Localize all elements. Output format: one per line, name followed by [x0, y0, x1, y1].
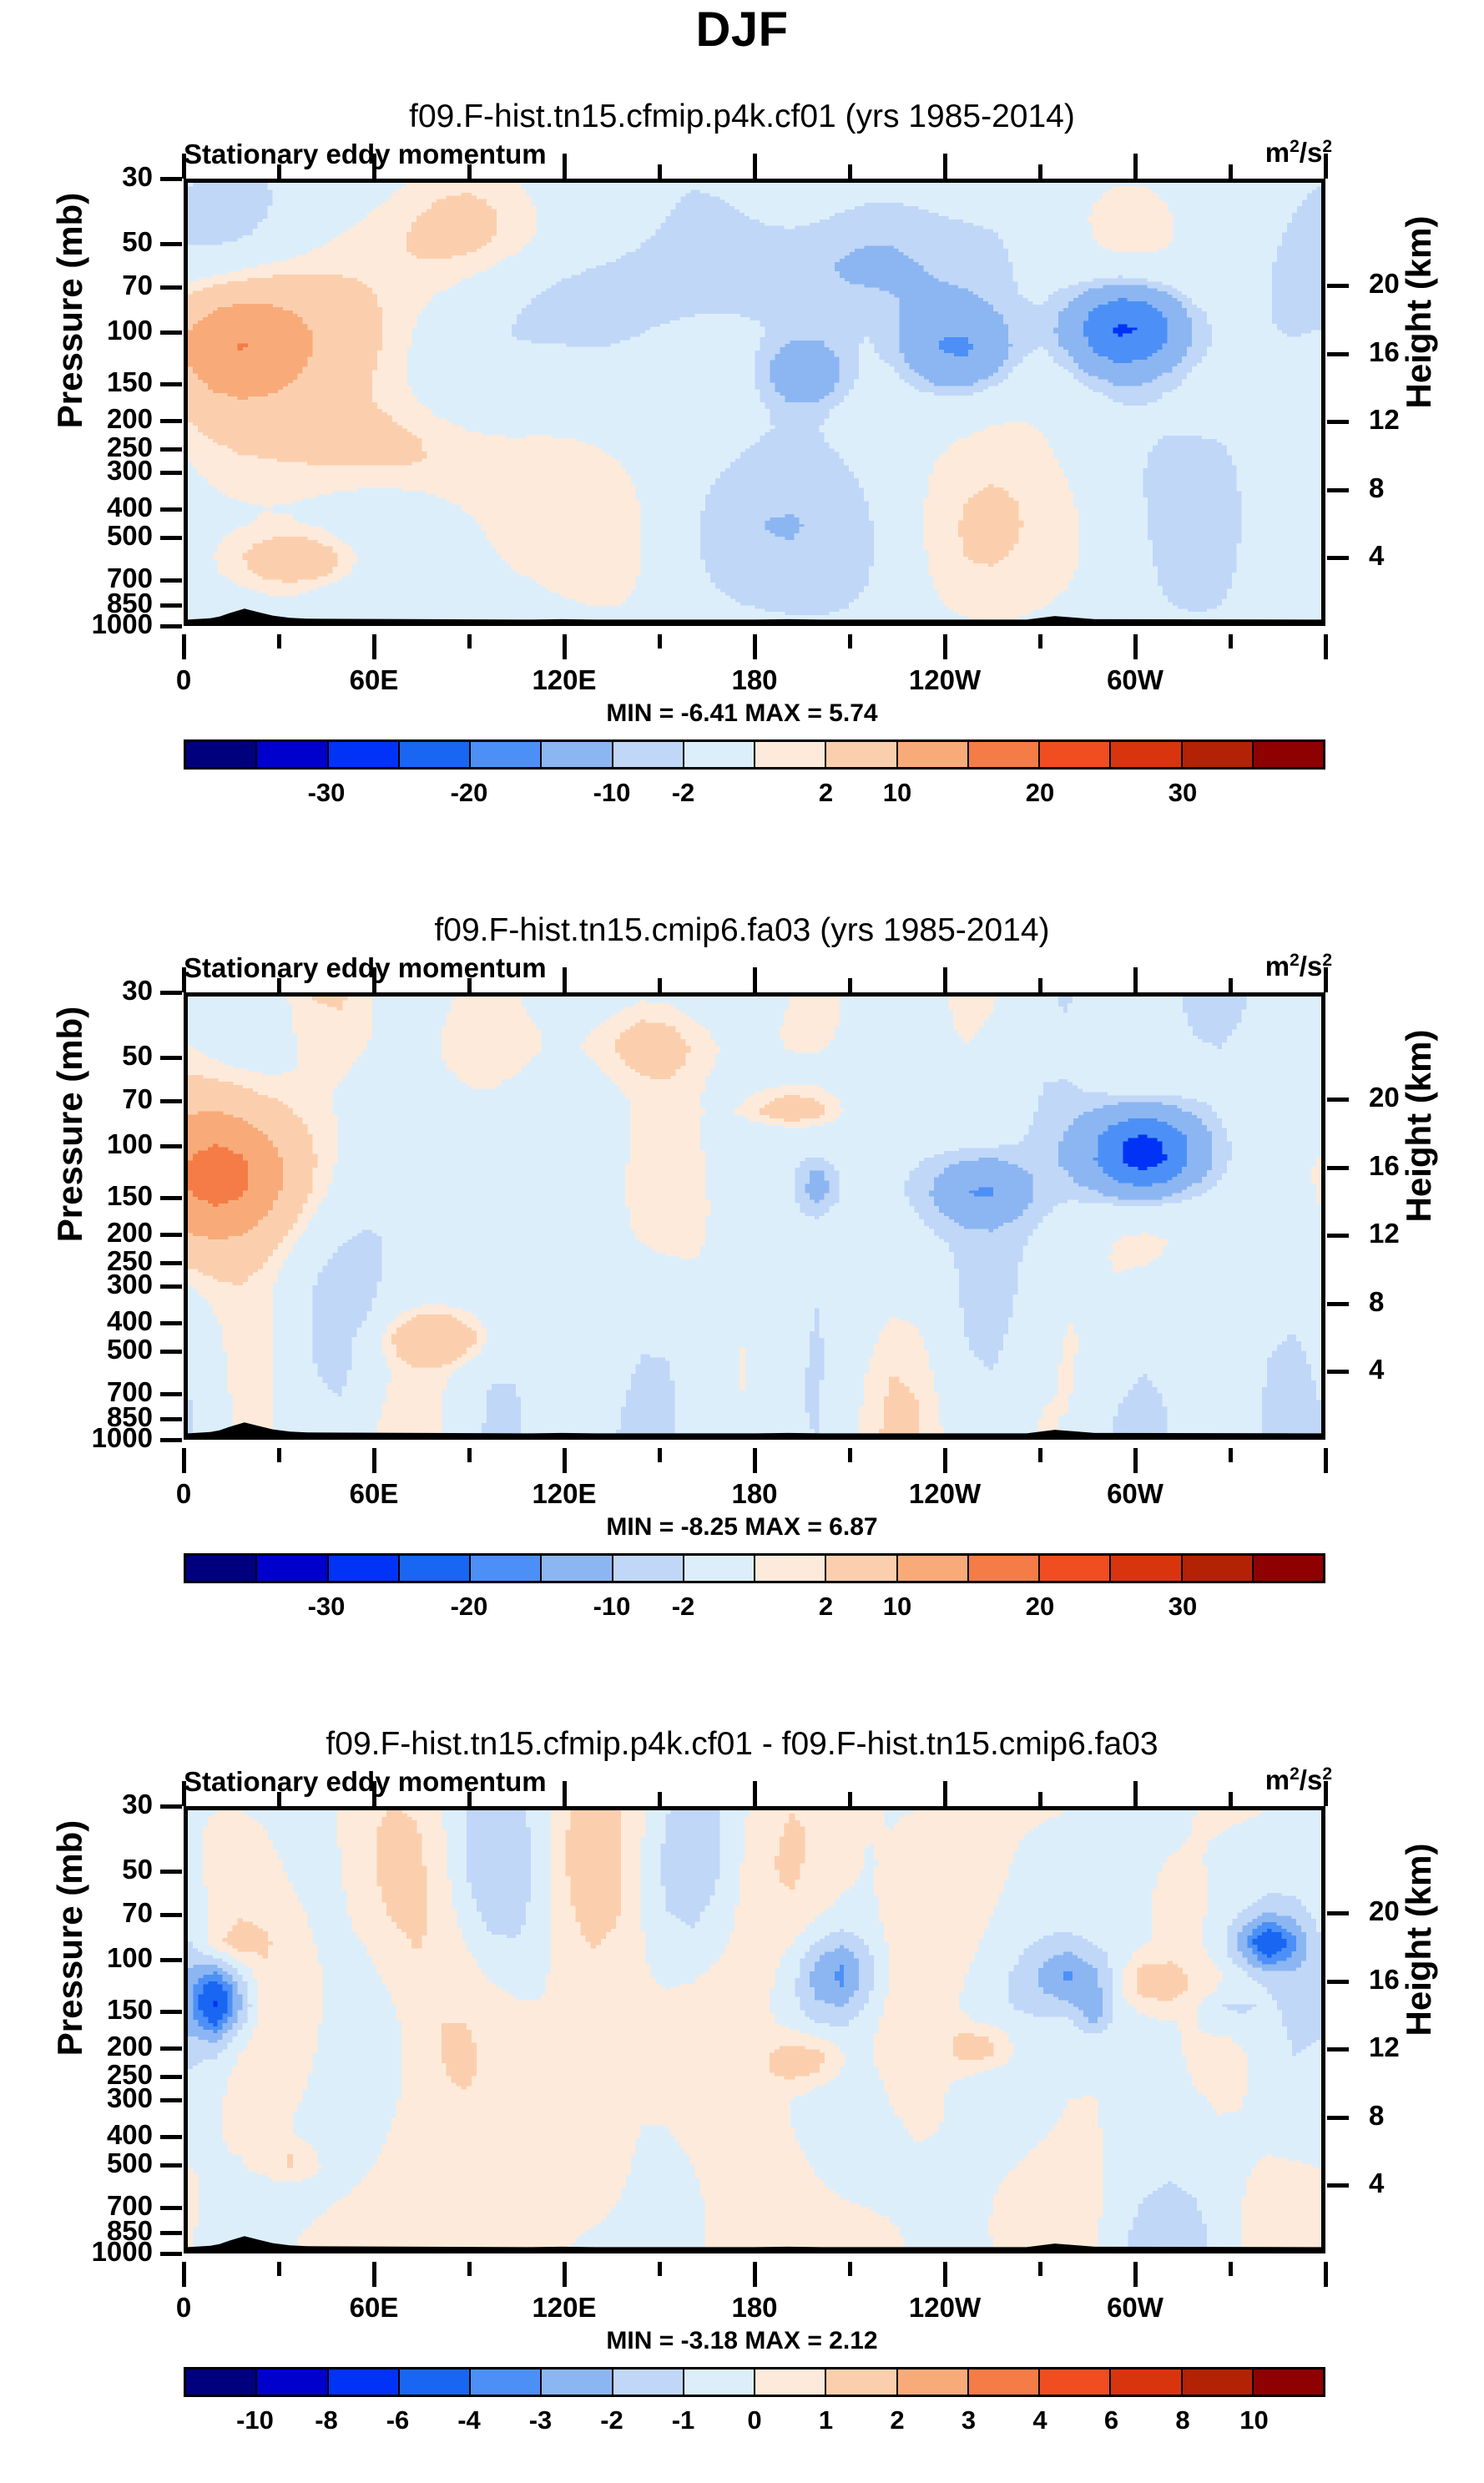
height-tickmark-20 — [1327, 1911, 1349, 1915]
colorbar-swatch-11 — [969, 1556, 1040, 1581]
pressure-tickmark-100 — [160, 331, 182, 335]
x-tickmark-top-270 — [1038, 164, 1042, 179]
x-tickmark-top-300 — [1133, 967, 1138, 992]
x-tickmark-top-270 — [1038, 978, 1042, 992]
x-tickmark-top-240 — [943, 154, 947, 179]
colorbar-label-1-p3: 1 — [819, 2405, 833, 2435]
contour-plot-2 — [184, 992, 1325, 1440]
pressure-tickmark-200 — [160, 1233, 182, 1237]
colorbar-swatch-14 — [1183, 1556, 1254, 1581]
x-tickmark-bottom-360 — [1324, 634, 1328, 659]
pressure-tickmark-250 — [160, 447, 182, 452]
x-tickmark-top-90 — [467, 1792, 472, 1806]
x-tickmark-bottom-300 — [1133, 634, 1138, 659]
pressure-tick-70-p3: 70 — [122, 1899, 153, 1926]
pressure-tick-500-p2: 500 — [107, 1335, 153, 1363]
x-tickmark-top-180 — [753, 154, 757, 179]
pressure-tickmark-50 — [160, 242, 182, 246]
height-tick-12-p3: 12 — [1369, 2033, 1400, 2061]
colorbar-swatch-6 — [613, 742, 684, 767]
colorbar-label-8-p3: 8 — [1175, 2405, 1189, 2435]
height-tick-12-p1: 12 — [1369, 406, 1400, 433]
pressure-tick-70-p2: 70 — [122, 1085, 153, 1113]
variable-name-2: Stationary eddy momentum — [184, 952, 547, 984]
height-tick-16-p1: 16 — [1369, 338, 1400, 366]
pressure-tickmark-250 — [160, 1261, 182, 1265]
colorbar-swatch-5 — [542, 1556, 613, 1581]
height-tick-8-p3: 8 — [1369, 2102, 1384, 2129]
x-tickmark-top-240 — [943, 1781, 947, 1806]
colorbar-swatch-2 — [329, 742, 400, 767]
pressure-tick-400-p1: 400 — [107, 493, 153, 521]
pressure-tick-300-p2: 300 — [107, 1270, 153, 1298]
pressure-tick-30-p2: 30 — [122, 977, 153, 1004]
x-tickmark-top-30 — [277, 1792, 281, 1806]
pressure-tick-200-p3: 200 — [107, 2032, 153, 2060]
pressure-tickmark-300 — [160, 1284, 182, 1289]
colorbar-swatch-11 — [969, 2369, 1040, 2395]
height-tick-8-p2: 8 — [1369, 1288, 1384, 1315]
colorbar-swatch-9 — [826, 2369, 897, 2395]
colorbar-label-20-p2: 20 — [1026, 1592, 1054, 1622]
colorbar-label-neg30-p1: -30 — [308, 778, 346, 808]
pressure-tickmark-100 — [160, 1144, 182, 1148]
height-tick-20-p3: 20 — [1369, 1897, 1400, 1925]
x-tickmark-top-330 — [1229, 1792, 1233, 1806]
x-tickmark-top-360 — [1324, 967, 1328, 992]
x-tickmark-top-60 — [372, 154, 376, 179]
colorbar-swatch-15 — [1254, 742, 1323, 767]
height-tickmark-20 — [1327, 284, 1349, 288]
colorbar-label-neg20-p2: -20 — [451, 1592, 488, 1622]
x-tick-label-60E-p3: 60E — [299, 2292, 449, 2324]
colorbar-label-neg3-p3: -3 — [529, 2405, 553, 2435]
x-tickmark-bottom-30 — [277, 634, 281, 649]
colorbar-swatch-4 — [471, 742, 542, 767]
x-tickmark-bottom-60 — [372, 1448, 376, 1473]
height-tickmark-12 — [1327, 420, 1349, 424]
height-tickmark-8 — [1327, 2116, 1349, 2120]
colorbar-label-2-p2: 2 — [819, 1592, 833, 1622]
colorbar-label-3-p3: 3 — [962, 2405, 976, 2435]
colorbar-1 — [184, 739, 1325, 770]
x-tick-label-60W-p3: 60W — [1060, 2292, 1210, 2324]
height-tickmark-16 — [1327, 1980, 1349, 1984]
variable-name-1: Stationary eddy momentum — [184, 139, 547, 170]
x-tickmark-bottom-60 — [372, 634, 376, 659]
colorbar-swatch-14 — [1183, 2369, 1254, 2395]
pressure-tick-400-p3: 400 — [107, 2121, 153, 2148]
x-tick-label-120W-p2: 120W — [870, 1478, 1020, 1510]
pressure-tickmark-850 — [160, 603, 182, 608]
height-tickmark-8 — [1327, 488, 1349, 492]
colorbar-swatch-8 — [755, 742, 826, 767]
figure-title: DJF — [0, 2, 1484, 58]
y-axis-label-pressure-1: Pressure (mb) — [50, 169, 90, 452]
colorbar-label-neg2-p2: -2 — [672, 1592, 695, 1622]
pressure-tick-150-p2: 150 — [107, 1182, 153, 1209]
colorbar-swatch-4 — [471, 2369, 542, 2395]
x-tickmark-bottom-150 — [658, 634, 662, 649]
x-tickmark-top-120 — [563, 1781, 567, 1806]
colorbar-swatch-7 — [684, 2369, 755, 2395]
y-axis-label-height-2: Height (km) — [1399, 984, 1439, 1268]
height-tick-8-p1: 8 — [1369, 474, 1384, 502]
colorbar-labels-1: -30-20-10-22102030 — [184, 778, 1325, 811]
x-tickmark-top-210 — [848, 164, 852, 179]
x-tickmark-top-90 — [467, 978, 472, 992]
x-tickmark-top-150 — [658, 978, 662, 992]
height-tick-16-p3: 16 — [1369, 1966, 1400, 1993]
x-tickmark-bottom-270 — [1038, 1448, 1042, 1462]
x-tickmark-bottom-240 — [943, 634, 947, 659]
x-tick-label-60E-p2: 60E — [299, 1478, 449, 1510]
x-tickmark-bottom-270 — [1038, 2262, 1042, 2276]
colorbar-swatch-10 — [898, 1556, 969, 1581]
x-tick-label-60E-p1: 60E — [299, 664, 449, 696]
x-tickmark-bottom-30 — [277, 2262, 281, 2276]
colorbar-label-neg6-p3: -6 — [386, 2405, 410, 2435]
colorbar-label-neg10-p1: -10 — [593, 778, 631, 808]
colorbar-swatch-0 — [186, 742, 257, 767]
colorbar-swatch-5 — [542, 742, 613, 767]
pressure-tickmark-150 — [160, 382, 182, 386]
colorbar-swatch-15 — [1254, 1556, 1323, 1581]
contour-plot-3 — [184, 1806, 1325, 2253]
panel-title-3: f09.F-hist.tn15.cfmip.p4k.cf01 - f09.F-h… — [0, 1726, 1484, 1763]
x-tickmark-bottom-90 — [467, 2262, 472, 2276]
pressure-tickmark-500 — [160, 1350, 182, 1354]
pressure-tickmark-150 — [160, 2010, 182, 2014]
x-tick-label-120E-p1: 120E — [489, 664, 639, 696]
pressure-tickmark-700 — [160, 2206, 182, 2210]
colorbar-swatch-12 — [1040, 2369, 1111, 2395]
min-max-label-1: MIN = -6.41 MAX = 5.74 — [0, 699, 1484, 728]
colorbar-swatch-9 — [826, 742, 897, 767]
colorbar-swatch-0 — [186, 1556, 257, 1581]
colorbar-label-2-p3: 2 — [890, 2405, 904, 2435]
x-tickmark-bottom-150 — [658, 2262, 662, 2276]
y-axis-label-height-1: Height (km) — [1399, 170, 1439, 454]
pressure-tickmark-400 — [160, 507, 182, 512]
x-tickmark-top-60 — [372, 967, 376, 992]
pressure-tickmark-500 — [160, 536, 182, 540]
x-tickmark-bottom-180 — [753, 1448, 757, 1473]
pressure-tickmark-70 — [160, 285, 182, 290]
colorbar-swatch-1 — [257, 742, 328, 767]
units-label-3: m2/s2 — [1265, 1764, 1332, 1796]
pressure-tick-150-p3: 150 — [107, 1996, 153, 2023]
colorbar-swatch-7 — [684, 1556, 755, 1581]
x-tickmark-top-180 — [753, 967, 757, 992]
pressure-tick-500-p1: 500 — [107, 522, 153, 549]
height-tickmark-12 — [1327, 2047, 1349, 2052]
colorbar-label-20-p1: 20 — [1026, 778, 1054, 808]
colorbar-3 — [184, 2367, 1325, 2397]
colorbar-label-neg8-p3: -8 — [315, 2405, 338, 2435]
colorbar-label-neg30-p2: -30 — [308, 1592, 346, 1622]
colorbar-label-neg10-p2: -10 — [593, 1592, 631, 1622]
colorbar-swatch-3 — [400, 1556, 471, 1581]
pressure-tick-1000-p1: 1000 — [92, 610, 153, 638]
x-tickmark-top-300 — [1133, 154, 1138, 179]
x-tickmark-bottom-120 — [563, 634, 567, 659]
x-tick-label-180-p3: 180 — [679, 2292, 830, 2324]
colorbar-label-10-p1: 10 — [883, 778, 911, 808]
pressure-tickmark-1000 — [160, 2252, 182, 2256]
colorbar-swatch-2 — [329, 2369, 400, 2395]
contour-plot-1 — [184, 179, 1325, 626]
colorbar-swatch-1 — [257, 1556, 328, 1581]
pressure-tickmark-200 — [160, 419, 182, 423]
pressure-tick-1000-p2: 1000 — [92, 1424, 153, 1451]
x-tickmark-bottom-300 — [1133, 1448, 1138, 1473]
pressure-tick-300-p1: 300 — [107, 457, 153, 484]
x-tickmark-bottom-300 — [1133, 2262, 1138, 2287]
x-tickmark-bottom-240 — [943, 1448, 947, 1473]
pressure-tickmark-1000 — [160, 624, 182, 628]
pressure-tickmark-150 — [160, 1196, 182, 1200]
colorbar-swatch-13 — [1111, 742, 1182, 767]
x-tickmark-bottom-180 — [753, 634, 757, 659]
colorbar-label-neg2-p3: -2 — [600, 2405, 623, 2435]
pressure-tickmark-50 — [160, 1870, 182, 1874]
height-tick-20-p2: 20 — [1369, 1083, 1400, 1111]
x-tickmark-bottom-360 — [1324, 2262, 1328, 2287]
colorbar-swatch-8 — [755, 1556, 826, 1581]
colorbar-swatch-12 — [1040, 1556, 1111, 1581]
colorbar-swatch-0 — [186, 2369, 257, 2395]
height-tickmark-4 — [1327, 556, 1349, 560]
colorbar-swatch-15 — [1254, 2369, 1323, 2395]
x-tickmark-bottom-240 — [943, 2262, 947, 2287]
x-tick-label-180-p1: 180 — [679, 664, 830, 696]
x-tickmark-bottom-330 — [1229, 2262, 1233, 2276]
colorbar-swatch-6 — [613, 1556, 684, 1581]
x-tickmark-top-360 — [1324, 154, 1328, 179]
x-tickmark-top-360 — [1324, 1781, 1328, 1806]
x-tick-label-180-p2: 180 — [679, 1478, 830, 1510]
pressure-tickmark-200 — [160, 2046, 182, 2051]
x-tickmark-bottom-330 — [1229, 634, 1233, 649]
panel-title-2: f09.F-hist.tn15.cmip6.fa03 (yrs 1985-201… — [0, 912, 1484, 949]
x-tickmark-bottom-210 — [848, 2262, 852, 2276]
colorbar-label-10-p3: 10 — [1239, 2405, 1268, 2435]
x-tick-label-0-p2: 0 — [109, 1478, 259, 1510]
colorbar-swatch-4 — [471, 1556, 542, 1581]
x-tickmark-top-150 — [658, 1792, 662, 1806]
x-tick-label-60W-p1: 60W — [1060, 664, 1210, 696]
x-tickmark-top-180 — [753, 1781, 757, 1806]
colorbar-label-neg20-p1: -20 — [451, 778, 488, 808]
pressure-tick-50-p1: 50 — [122, 228, 153, 255]
pressure-tickmark-700 — [160, 1392, 182, 1396]
y-axis-label-pressure-3: Pressure (mb) — [50, 1796, 90, 2080]
x-tickmark-top-300 — [1133, 1781, 1138, 1806]
x-tick-label-0-p1: 0 — [109, 664, 259, 696]
height-tick-4-p1: 4 — [1369, 542, 1384, 569]
height-tick-4-p3: 4 — [1369, 2169, 1384, 2197]
variable-name-3: Stationary eddy momentum — [184, 1766, 547, 1798]
colorbar-swatch-6 — [613, 2369, 684, 2395]
colorbar-swatch-11 — [969, 742, 1040, 767]
height-tickmark-12 — [1327, 1234, 1349, 1238]
panel-title-1: f09.F-hist.tn15.cfmip.p4k.cf01 (yrs 1985… — [0, 98, 1484, 135]
colorbar-labels-3: -10-8-6-4-3-2-1012346810 — [184, 2405, 1325, 2439]
y-axis-label-pressure-2: Pressure (mb) — [50, 982, 90, 1266]
colorbar-2 — [184, 1553, 1325, 1583]
pressure-tick-200-p2: 200 — [107, 1219, 153, 1246]
x-tickmark-bottom-0 — [182, 1448, 186, 1473]
x-tickmark-bottom-60 — [372, 2262, 376, 2287]
colorbar-labels-2: -30-20-10-22102030 — [184, 1592, 1325, 1625]
pressure-tick-150-p1: 150 — [107, 368, 153, 396]
colorbar-swatch-3 — [400, 2369, 471, 2395]
x-tickmark-bottom-30 — [277, 1448, 281, 1462]
pressure-tick-300-p3: 300 — [107, 2084, 153, 2112]
height-tick-4-p2: 4 — [1369, 1355, 1384, 1383]
x-tickmark-top-330 — [1229, 164, 1233, 179]
pressure-tickmark-70 — [160, 1913, 182, 1917]
pressure-tick-30-p3: 30 — [122, 1790, 153, 1818]
pressure-tick-200-p1: 200 — [107, 405, 153, 432]
x-tickmark-top-60 — [372, 1781, 376, 1806]
x-tickmark-bottom-180 — [753, 2262, 757, 2287]
height-tickmark-4 — [1327, 2183, 1349, 2188]
colorbar-swatch-2 — [329, 1556, 400, 1581]
pressure-tick-100-p1: 100 — [107, 316, 153, 344]
x-tick-label-60W-p2: 60W — [1060, 1478, 1210, 1510]
pressure-tickmark-300 — [160, 471, 182, 475]
pressure-tickmark-850 — [160, 2231, 182, 2235]
y-axis-label-height-3: Height (km) — [1399, 1798, 1439, 2082]
pressure-tickmark-30 — [160, 177, 182, 181]
colorbar-label-30-p1: 30 — [1169, 778, 1197, 808]
x-tickmark-bottom-210 — [848, 1448, 852, 1462]
x-tickmark-top-240 — [943, 967, 947, 992]
colorbar-label-4-p3: 4 — [1032, 2405, 1047, 2435]
x-tickmark-top-30 — [277, 978, 281, 992]
pressure-tickmark-850 — [160, 1417, 182, 1421]
pressure-tick-100-p2: 100 — [107, 1130, 153, 1158]
x-tickmark-bottom-0 — [182, 2262, 186, 2287]
colorbar-swatch-14 — [1183, 742, 1254, 767]
colorbar-swatch-3 — [400, 742, 471, 767]
pressure-tickmark-250 — [160, 2075, 182, 2079]
x-tickmark-top-30 — [277, 164, 281, 179]
x-tickmark-top-270 — [1038, 1792, 1042, 1806]
x-tickmark-top-0 — [182, 154, 186, 179]
x-tickmark-top-90 — [467, 164, 472, 179]
colorbar-swatch-13 — [1111, 1556, 1182, 1581]
colorbar-label-10-p2: 10 — [883, 1592, 911, 1622]
units-label-1: m2/s2 — [1265, 137, 1332, 169]
x-tickmark-top-120 — [563, 967, 567, 992]
pressure-tick-70-p1: 70 — [122, 271, 153, 299]
colorbar-swatch-10 — [898, 742, 969, 767]
pressure-tickmark-400 — [160, 1321, 182, 1325]
colorbar-swatch-7 — [684, 742, 755, 767]
x-tickmark-top-210 — [848, 978, 852, 992]
height-tick-20-p1: 20 — [1369, 270, 1400, 297]
pressure-tick-500-p3: 500 — [107, 2149, 153, 2177]
colorbar-swatch-1 — [257, 2369, 328, 2395]
min-max-label-2: MIN = -8.25 MAX = 6.87 — [0, 1513, 1484, 1542]
x-tickmark-top-0 — [182, 1781, 186, 1806]
min-max-label-3: MIN = -3.18 MAX = 2.12 — [0, 2327, 1484, 2355]
colorbar-label-neg1-p3: -1 — [672, 2405, 695, 2435]
height-tickmark-16 — [1327, 1166, 1349, 1170]
height-tickmark-16 — [1327, 352, 1349, 356]
colorbar-label-0-p3: 0 — [747, 2405, 761, 2435]
x-tick-label-120E-p2: 120E — [489, 1478, 639, 1510]
x-tickmark-bottom-120 — [563, 1448, 567, 1473]
colorbar-swatch-10 — [898, 2369, 969, 2395]
x-tick-label-120W-p1: 120W — [870, 664, 1020, 696]
pressure-tick-30-p1: 30 — [122, 163, 153, 190]
colorbar-label-neg4-p3: -4 — [457, 2405, 481, 2435]
x-tickmark-bottom-120 — [563, 2262, 567, 2287]
height-tick-12-p2: 12 — [1369, 1219, 1400, 1247]
x-tick-label-0-p3: 0 — [109, 2292, 259, 2324]
units-label-2: m2/s2 — [1265, 951, 1332, 982]
height-tick-16-p2: 16 — [1369, 1152, 1400, 1179]
colorbar-swatch-13 — [1111, 2369, 1182, 2395]
pressure-tick-50-p2: 50 — [122, 1042, 153, 1069]
height-tickmark-4 — [1327, 1370, 1349, 1374]
pressure-tickmark-400 — [160, 2135, 182, 2139]
x-tickmark-bottom-360 — [1324, 1448, 1328, 1473]
x-tickmark-bottom-90 — [467, 634, 472, 649]
x-tick-label-120E-p3: 120E — [489, 2292, 639, 2324]
x-tickmark-top-330 — [1229, 978, 1233, 992]
colorbar-label-neg10-p3: -10 — [236, 2405, 274, 2435]
pressure-tickmark-1000 — [160, 1438, 182, 1442]
x-tickmark-bottom-150 — [658, 1448, 662, 1462]
pressure-tickmark-70 — [160, 1099, 182, 1103]
x-tickmark-top-0 — [182, 967, 186, 992]
x-tickmark-bottom-210 — [848, 634, 852, 649]
height-tickmark-8 — [1327, 1302, 1349, 1306]
colorbar-label-6-p3: 6 — [1104, 2405, 1118, 2435]
colorbar-label-neg2-p1: -2 — [672, 778, 695, 808]
colorbar-swatch-9 — [826, 1556, 897, 1581]
pressure-tick-100-p3: 100 — [107, 1944, 153, 1971]
height-tickmark-20 — [1327, 1098, 1349, 1102]
x-tick-label-120W-p3: 120W — [870, 2292, 1020, 2324]
colorbar-swatch-5 — [542, 2369, 613, 2395]
colorbar-swatch-12 — [1040, 742, 1111, 767]
pressure-tickmark-300 — [160, 2098, 182, 2102]
x-tickmark-bottom-0 — [182, 634, 186, 659]
pressure-tickmark-30 — [160, 1804, 182, 1809]
pressure-tick-1000-p3: 1000 — [92, 2238, 153, 2265]
pressure-tickmark-500 — [160, 2163, 182, 2168]
x-tickmark-top-120 — [563, 154, 567, 179]
colorbar-label-30-p2: 30 — [1169, 1592, 1197, 1622]
x-tickmark-top-210 — [848, 1792, 852, 1806]
pressure-tickmark-700 — [160, 578, 182, 583]
x-tickmark-bottom-330 — [1229, 1448, 1233, 1462]
x-tickmark-bottom-270 — [1038, 634, 1042, 649]
pressure-tick-50-p3: 50 — [122, 1855, 153, 1883]
colorbar-label-2-p1: 2 — [819, 778, 833, 808]
x-tickmark-bottom-90 — [467, 1448, 472, 1462]
pressure-tick-400-p2: 400 — [107, 1307, 153, 1335]
colorbar-swatch-8 — [755, 2369, 826, 2395]
x-tickmark-top-150 — [658, 164, 662, 179]
pressure-tickmark-100 — [160, 1958, 182, 1962]
